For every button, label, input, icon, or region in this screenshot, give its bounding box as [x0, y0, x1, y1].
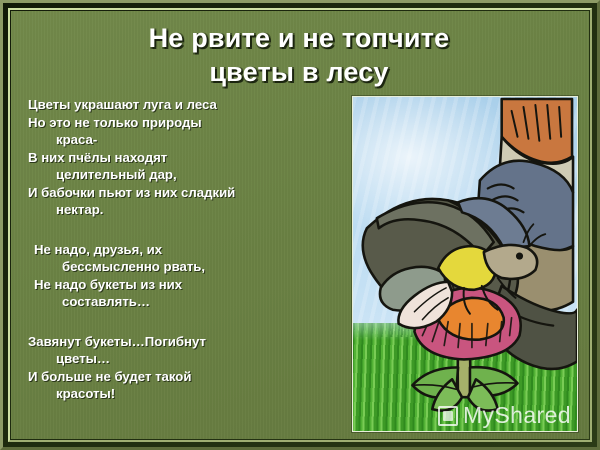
bee-eye: [516, 252, 523, 259]
poem-line: Цветы украшают луга и леса: [28, 96, 348, 114]
poem-text-block: Цветы украшают луга и леса Но это не тол…: [28, 96, 348, 412]
poem-stanza-1: Цветы украшают луга и леса Но это не тол…: [28, 96, 348, 219]
watermark-label: MyShared: [463, 404, 571, 427]
illustration-image: MyShared: [352, 96, 578, 432]
slide-frame: Не рвите и не топчите цветы в лесу Цветы…: [0, 0, 600, 450]
poem-line: И больше не будет такой: [28, 368, 348, 386]
title-line-1: Не рвите и не топчите: [21, 21, 577, 55]
poem-line: Завянут букеты…Погибнут: [28, 333, 348, 351]
poem-stanza-3: Завянут букеты…Погибнут цветы… И больше …: [28, 333, 348, 403]
slide-canvas: Не рвите и не топчите цветы в лесу Цветы…: [11, 11, 589, 439]
poem-line: В них пчёлы находят: [28, 149, 348, 167]
poem-line: краса-: [28, 131, 348, 149]
poem-line: Не надо букеты из них: [34, 276, 348, 294]
page-title: Не рвите и не топчите цветы в лесу: [21, 21, 577, 89]
poem-line: Не надо, друзья, их: [34, 241, 348, 259]
poem-line: нектар.: [28, 201, 348, 219]
myshared-logo-icon: [438, 406, 458, 426]
stanza-spacer: [28, 228, 348, 241]
boot-and-flower-drawing: [353, 97, 577, 431]
poem-line: целительный дар,: [28, 166, 348, 184]
poem-stanza-2: Не надо, друзья, их бессмысленно рвать, …: [28, 241, 348, 311]
poem-line: составлять…: [34, 293, 348, 311]
poem-line: И бабочки пьют из них сладкий: [28, 184, 348, 202]
watermark: MyShared: [438, 404, 571, 427]
title-line-2: цветы в лесу: [21, 55, 577, 89]
stanza-spacer: [28, 320, 348, 333]
poem-line: бессмысленно рвать,: [34, 258, 348, 276]
poem-line: цветы…: [28, 350, 348, 368]
poem-line: Но это не только природы: [28, 114, 348, 132]
poem-line: красоты!: [28, 385, 348, 403]
